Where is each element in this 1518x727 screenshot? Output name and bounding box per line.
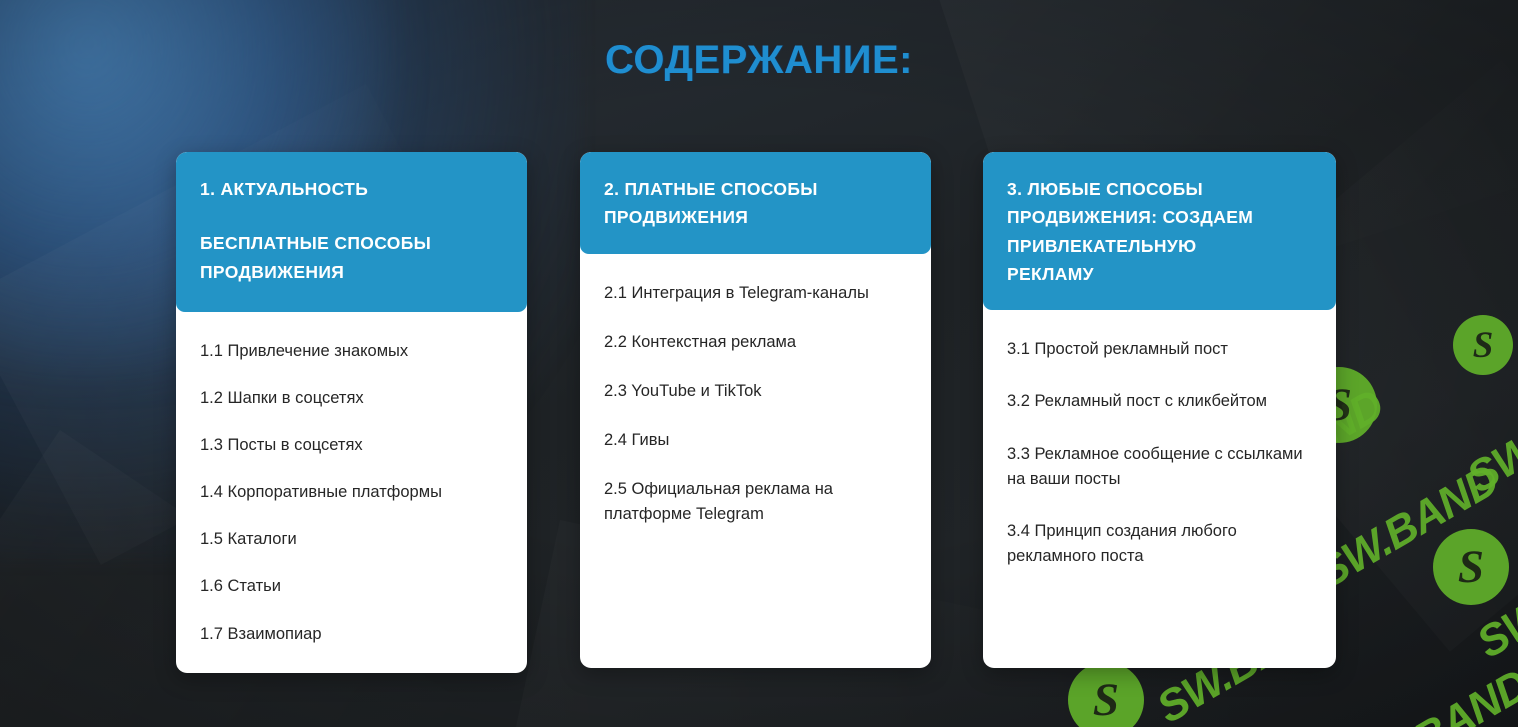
list-item: 1.1 Привлечение знакомых <box>200 339 503 364</box>
card-header-line: РЕКЛАМУ <box>1007 260 1312 288</box>
list-item: 1.7 Взаимопиар <box>200 622 503 647</box>
list-item: 3.3 Рекламное сообщение с ссылками на ва… <box>1007 442 1312 492</box>
list-item: 2.5 Официальная реклама на платформе Tel… <box>604 477 907 527</box>
list-item: 1.6 Статьи <box>200 574 503 599</box>
card-header-spacer <box>200 203 503 229</box>
list-item: 3.2 Рекламный пост с кликбейтом <box>1007 389 1312 414</box>
content-card-2: 2. ПЛАТНЫЕ СПОСОБЫПРОДВИЖЕНИЯ 2.1 Интегр… <box>580 152 931 668</box>
card-2-header: 2. ПЛАТНЫЕ СПОСОБЫПРОДВИЖЕНИЯ <box>580 152 931 254</box>
content-card-1: 1. АКТУАЛЬНОСТЬБЕСПЛАТНЫЕ СПОСОБЫПРОДВИЖ… <box>176 152 527 673</box>
card-header-line: ПРОДВИЖЕНИЯ: СОЗДАЕМ <box>1007 203 1312 231</box>
card-3-header: 3. ЛЮБЫЕ СПОСОБЫПРОДВИЖЕНИЯ: СОЗДАЕМПРИВ… <box>983 152 1336 310</box>
card-3-body: 3.1 Простой рекламный пост3.2 Рекламный … <box>983 310 1336 615</box>
list-item: 2.3 YouTube и TikTok <box>604 379 907 404</box>
page-title: СОДЕРЖАНИЕ: <box>0 38 1518 83</box>
card-header-line: 1. АКТУАЛЬНОСТЬ <box>200 175 503 203</box>
card-header-line: ПРИВЛЕКАТЕЛЬНУЮ <box>1007 232 1312 260</box>
card-header-line: 3. ЛЮБЫЕ СПОСОБЫ <box>1007 175 1312 203</box>
list-item: 3.4 Принцип создания любого рекламного п… <box>1007 519 1312 569</box>
card-2-body: 2.1 Интеграция в Telegram-каналы2.2 Конт… <box>580 254 931 571</box>
card-1-header: 1. АКТУАЛЬНОСТЬБЕСПЛАТНЫЕ СПОСОБЫПРОДВИЖ… <box>176 152 527 312</box>
card-header-line: ПРОДВИЖЕНИЯ <box>200 258 503 286</box>
list-item: 3.1 Простой рекламный пост <box>1007 337 1312 362</box>
content-card-3: 3. ЛЮБЫЕ СПОСОБЫПРОДВИЖЕНИЯ: СОЗДАЕМПРИВ… <box>983 152 1336 668</box>
card-header-line: ПРОДВИЖЕНИЯ <box>604 203 907 231</box>
list-item: 1.5 Каталоги <box>200 527 503 552</box>
list-item: 2.2 Контекстная реклама <box>604 330 907 355</box>
list-item: 2.1 Интеграция в Telegram-каналы <box>604 281 907 306</box>
list-item: 1.4 Корпоративные платформы <box>200 480 503 505</box>
card-1-body: 1.1 Привлечение знакомых1.2 Шапки в соцс… <box>176 312 527 673</box>
list-item: 1.2 Шапки в соцсетях <box>200 386 503 411</box>
list-item: 2.4 Гивы <box>604 428 907 453</box>
list-item: 1.3 Посты в соцсетях <box>200 433 503 458</box>
card-header-line: БЕСПЛАТНЫЕ СПОСОБЫ <box>200 229 503 257</box>
card-header-line: 2. ПЛАТНЫЕ СПОСОБЫ <box>604 175 907 203</box>
